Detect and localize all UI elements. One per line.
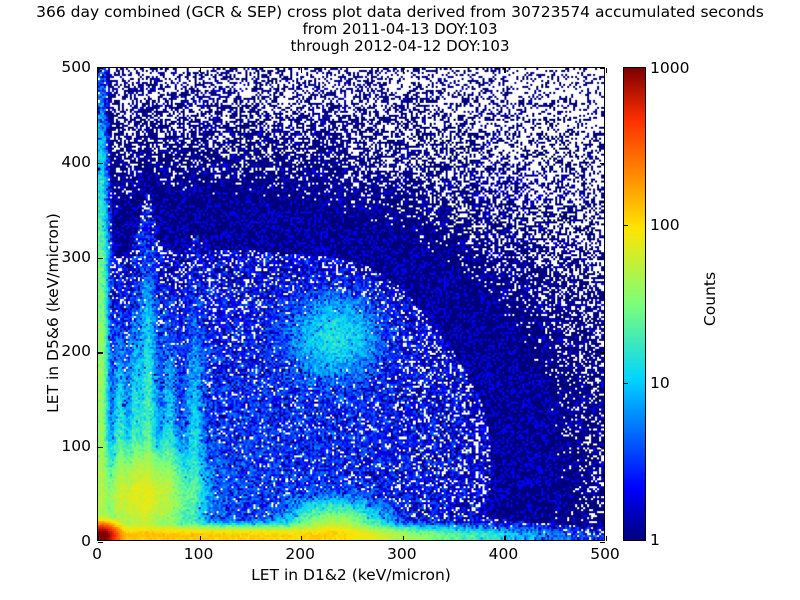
x-tick-100 bbox=[200, 68, 201, 73]
colorbar-tick-label-1000: 1000 bbox=[650, 59, 689, 77]
x-tick-500 bbox=[606, 536, 607, 541]
x-axis-label: LET in D1&2 (keV/micron) bbox=[97, 566, 605, 584]
y-tick-label-500: 500 bbox=[91, 58, 121, 76]
colorbar-label: Counts bbox=[701, 229, 719, 369]
plot-figure: 366 day combined (GCR & SEP) cross plot … bbox=[0, 0, 800, 600]
x-tick-200 bbox=[301, 68, 302, 73]
x-tick-label-500: 500 bbox=[590, 545, 620, 563]
title-line-1: 366 day combined (GCR & SEP) cross plot … bbox=[0, 4, 800, 21]
x-tick-400 bbox=[504, 68, 505, 73]
y-tick-label-100: 100 bbox=[91, 437, 121, 455]
colorbar-tick-10 bbox=[623, 383, 628, 384]
x-tick-300 bbox=[403, 536, 404, 541]
y-tick-label-0: 0 bbox=[91, 532, 101, 550]
x-tick-100 bbox=[200, 536, 201, 541]
title-line-3: through 2012-04-12 DOY:103 bbox=[0, 38, 800, 55]
plot-axes-frame bbox=[97, 67, 605, 541]
x-tick-label-400: 400 bbox=[489, 545, 519, 563]
y-tick-label-300: 300 bbox=[91, 248, 121, 266]
y-tick-400 bbox=[600, 163, 605, 164]
y-tick-500 bbox=[600, 68, 605, 69]
colorbar-tick-label-100: 100 bbox=[650, 216, 680, 234]
x-tick-500 bbox=[606, 68, 607, 73]
x-tick-label-300: 300 bbox=[387, 545, 417, 563]
colorbar-gradient bbox=[623, 67, 646, 541]
title-line-2: from 2011-04-13 DOY:103 bbox=[0, 21, 800, 38]
x-tick-300 bbox=[403, 68, 404, 73]
x-tick-200 bbox=[301, 536, 302, 541]
colorbar-tick-label-10: 10 bbox=[650, 374, 670, 392]
y-axis-label: LET in D5&6 (keV/micron) bbox=[44, 183, 62, 443]
y-tick-200 bbox=[600, 352, 605, 353]
colorbar-tick-label-1: 1 bbox=[650, 531, 660, 549]
y-tick-0 bbox=[600, 542, 605, 543]
y-tick-label-400: 400 bbox=[91, 153, 121, 171]
x-tick-label-200: 200 bbox=[285, 545, 315, 563]
density-heatmap-canvas bbox=[98, 68, 604, 540]
x-tick-label-100: 100 bbox=[184, 545, 214, 563]
y-tick-100 bbox=[600, 447, 605, 448]
colorbar-tick-100 bbox=[623, 225, 628, 226]
colorbar bbox=[623, 67, 646, 541]
y-tick-300 bbox=[600, 258, 605, 259]
y-tick-label-200: 200 bbox=[91, 342, 121, 360]
x-tick-400 bbox=[504, 536, 505, 541]
figure-title: 366 day combined (GCR & SEP) cross plot … bbox=[0, 4, 800, 55]
